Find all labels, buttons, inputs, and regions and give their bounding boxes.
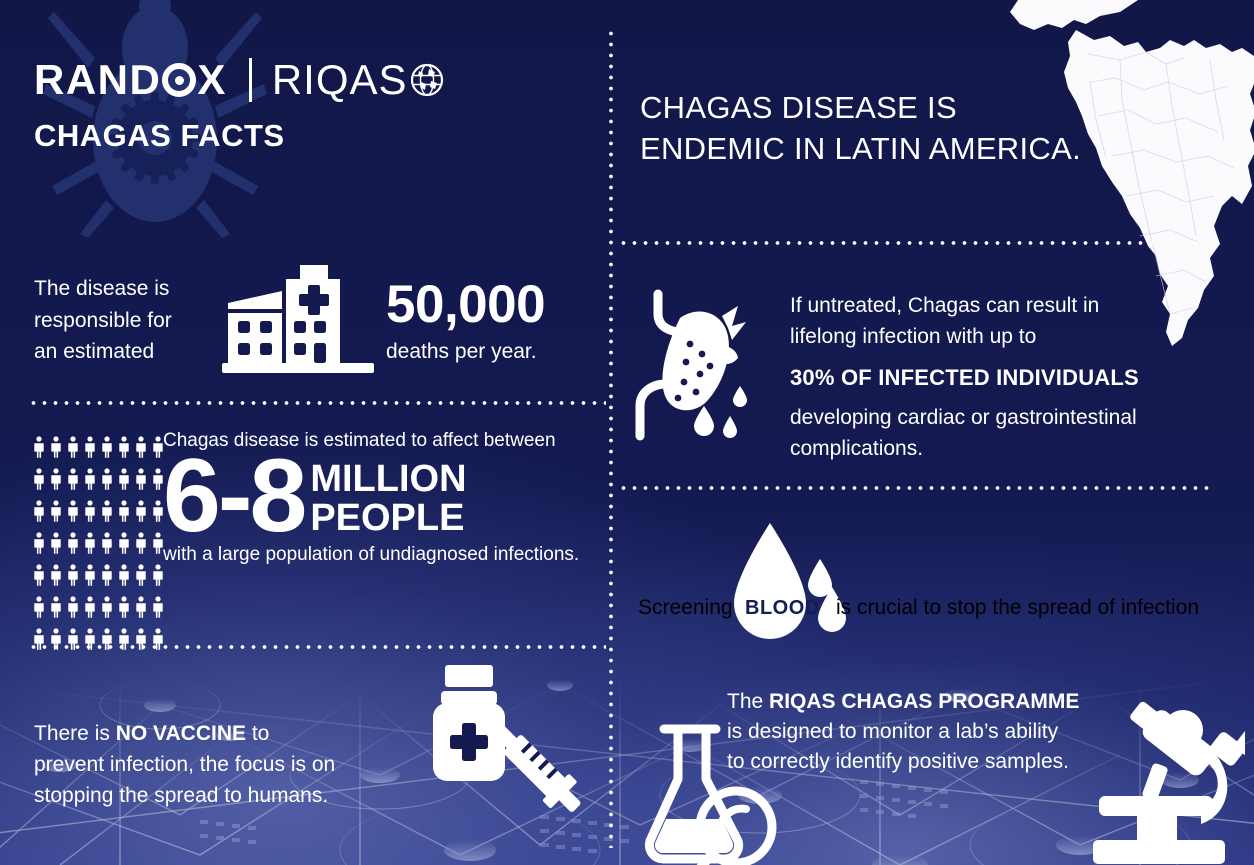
person-icon xyxy=(134,468,148,490)
person-icon xyxy=(151,628,165,650)
person-icon xyxy=(100,468,114,490)
person-icon xyxy=(49,532,63,554)
infographic-poster: RAND X RIQAS CHAGAS FACTS CHAGAS xyxy=(0,0,1254,865)
person-icon xyxy=(134,532,148,554)
brand-lockup: RAND X RIQAS xyxy=(34,58,444,102)
divider-right-2 xyxy=(618,486,1213,490)
person-icon xyxy=(49,500,63,522)
endemic-line-2: ENDEMIC IN LATIN AMERICA. xyxy=(640,129,1081,170)
million-word-line-1: MILLION xyxy=(310,460,466,499)
randox-o-mark xyxy=(162,63,196,97)
person-icon xyxy=(83,436,97,458)
person-icon xyxy=(117,532,131,554)
person-icon xyxy=(66,532,80,554)
programme-line-2: is designed to monitor a lab’s ability xyxy=(727,717,1127,747)
deaths-lead-line-2: responsible for xyxy=(34,305,214,337)
brand-header: RAND X RIQAS CHAGAS FACTS xyxy=(34,58,444,154)
thirty-head-line-2: lifelong infection with up to xyxy=(790,321,1215,352)
no-vaccine-block: There is NO VACCINE to prevent infection… xyxy=(34,718,434,811)
million-bottom-text: with a large population of undiagnosed i… xyxy=(163,544,613,566)
person-icon xyxy=(49,596,63,618)
deaths-lead-line-3: an estimated xyxy=(34,336,214,368)
person-icon xyxy=(32,532,46,554)
screening-pre-text: Screening xyxy=(638,596,733,620)
thirty-tail: developing cardiac or gastrointestinal c… xyxy=(790,402,1215,464)
people-grid-icon xyxy=(32,436,165,650)
vaccine-line-3: stopping the spread to humans. xyxy=(34,780,434,811)
person-icon xyxy=(32,564,46,586)
endemic-statement: CHAGAS DISEASE IS ENDEMIC IN LATIN AMERI… xyxy=(640,88,1081,170)
person-icon xyxy=(134,436,148,458)
thirty-tail-line-1: developing cardiac or gastrointestinal xyxy=(790,402,1215,433)
person-icon xyxy=(66,564,80,586)
person-icon xyxy=(32,500,46,522)
vaccine-line-1-pre: There is xyxy=(34,722,116,745)
programme-line-3: to correctly identify positive samples. xyxy=(727,747,1127,777)
person-icon xyxy=(117,468,131,490)
person-icon xyxy=(32,628,46,650)
vaccine-line-1: There is NO VACCINE to xyxy=(34,718,434,749)
divider-right-1 xyxy=(618,241,1213,245)
blood-droplet-icon xyxy=(728,519,848,664)
person-icon xyxy=(100,564,114,586)
person-icon xyxy=(134,500,148,522)
hospital-icon xyxy=(220,263,376,378)
randox-part-post: X xyxy=(197,59,227,101)
thirty-percent-block: If untreated, Chagas can result in lifel… xyxy=(790,290,1215,464)
million-text: Chagas disease is estimated to affect be… xyxy=(163,430,613,566)
thirty-head: If untreated, Chagas can result in lifel… xyxy=(790,290,1215,352)
person-icon xyxy=(83,468,97,490)
vaccine-emphasis: NO VACCINE xyxy=(116,722,246,745)
person-icon xyxy=(100,500,114,522)
programme-line-1: The RIQAS CHAGAS PROGRAMME xyxy=(727,687,1127,717)
person-icon xyxy=(151,564,165,586)
globe-icon xyxy=(410,63,444,97)
deaths-lead-text: The disease is responsible for an estima… xyxy=(34,273,214,368)
page-title: CHAGAS FACTS xyxy=(34,118,444,154)
thirty-head-line-1: If untreated, Chagas can result in xyxy=(790,290,1215,321)
randox-wordmark: RAND X xyxy=(34,59,227,101)
riqas-wordmark: RIQAS xyxy=(272,59,444,101)
programme-line-1-pre: The xyxy=(727,690,769,713)
riqas-label: RIQAS xyxy=(272,59,408,101)
person-icon xyxy=(117,628,131,650)
person-icon xyxy=(66,468,80,490)
screening-post-text: is crucial to stop the spread of infecti… xyxy=(836,596,1199,620)
stomach-icon xyxy=(634,288,764,448)
person-icon xyxy=(49,628,63,650)
person-icon xyxy=(66,596,80,618)
person-icon xyxy=(100,596,114,618)
divider-left-1 xyxy=(28,401,606,405)
person-icon xyxy=(134,596,148,618)
person-icon xyxy=(117,436,131,458)
person-icon xyxy=(117,564,131,586)
endemic-line-1: CHAGAS DISEASE IS xyxy=(640,88,1081,129)
person-icon xyxy=(66,436,80,458)
person-icon xyxy=(100,436,114,458)
person-icon xyxy=(32,436,46,458)
person-icon xyxy=(100,628,114,650)
thirty-tail-line-2: complications. xyxy=(790,433,1215,464)
person-icon xyxy=(117,596,131,618)
deaths-caption: deaths per year. xyxy=(386,340,545,364)
deaths-number: 50,000 xyxy=(386,278,545,331)
droplet-label: BLOOD xyxy=(745,597,820,620)
person-icon xyxy=(49,564,63,586)
person-icon xyxy=(151,596,165,618)
riqas-programme-block: The RIQAS CHAGAS PROGRAMME is designed t… xyxy=(727,687,1127,778)
microscope-icon xyxy=(1085,672,1245,865)
person-icon xyxy=(83,500,97,522)
person-icon xyxy=(66,628,80,650)
person-icon xyxy=(32,596,46,618)
person-icon xyxy=(83,628,97,650)
person-icon xyxy=(32,468,46,490)
deaths-figure: 50,000 deaths per year. xyxy=(386,278,545,364)
person-icon xyxy=(49,436,63,458)
person-icon xyxy=(49,468,63,490)
person-icon xyxy=(134,628,148,650)
vaccine-line-2: prevent infection, the focus is on xyxy=(34,749,434,780)
million-big-number: 6-8 xyxy=(163,448,304,546)
person-icon xyxy=(83,532,97,554)
person-icon xyxy=(83,564,97,586)
thirty-emphasis: 30% OF INFECTED INDIVIDUALS xyxy=(790,365,1215,391)
million-word-line-2: PEOPLE xyxy=(310,499,466,538)
vaccine-line-1-post: to xyxy=(246,722,269,745)
deaths-stat-block: The disease is responsible for an estima… xyxy=(34,263,604,388)
person-icon xyxy=(134,564,148,586)
person-icon xyxy=(100,532,114,554)
deaths-lead-line-1: The disease is xyxy=(34,273,214,305)
million-big-words: MILLION PEOPLE xyxy=(310,460,466,538)
vaccine-bottle-syringe-icon xyxy=(415,665,600,850)
brand-divider xyxy=(249,58,252,102)
person-icon xyxy=(83,596,97,618)
programme-emphasis: RIQAS CHAGAS PROGRAMME xyxy=(769,690,1079,713)
randox-part-pre: RAND xyxy=(34,59,161,101)
person-icon xyxy=(117,500,131,522)
person-icon xyxy=(66,500,80,522)
